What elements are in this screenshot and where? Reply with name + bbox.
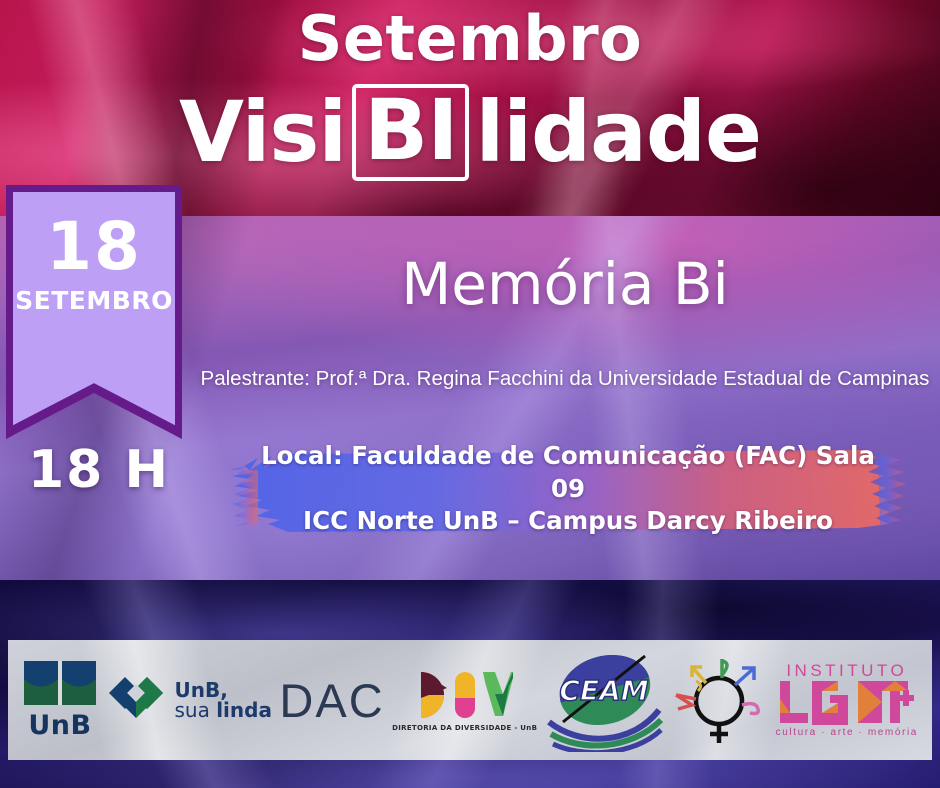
logo-instituto-lgbt: INSTITUTO cultura · arte · memória — [776, 662, 918, 738]
logo-gender-symbol — [670, 651, 768, 749]
title-suffix: lidade — [475, 90, 761, 174]
sponsor-logo-bar: UnB UnB, sua linda DAC — [8, 640, 932, 760]
title-line-setembro: Setembro — [0, 8, 940, 70]
ribbon-day: 18 — [13, 214, 175, 280]
sua-linda-line2: sua linda — [174, 700, 271, 720]
unb-wordmark: UnB — [28, 710, 91, 741]
unb-logo-icon — [22, 659, 98, 709]
location-banner: Local: Faculdade de Comunicação (FAC) Sa… — [228, 440, 908, 538]
ceam-wordmark: CEAM — [559, 674, 648, 707]
heart-logo-icon — [105, 671, 167, 729]
div-caption: DIRETORIA DA DIVERSIDADE - UnB — [392, 724, 537, 732]
title-boxed-bi: BI — [352, 84, 469, 181]
combined-gender-symbol-icon — [670, 651, 768, 749]
logo-unb-sua-linda: UnB, sua linda — [105, 671, 271, 729]
logo-ceam: CEAM — [545, 648, 663, 752]
poster-title: Setembro VisiBIlidade — [0, 8, 940, 181]
logo-unb: UnB — [22, 659, 98, 741]
title-line-visibilidade: VisiBIlidade — [0, 84, 940, 181]
dac-wordmark: DAC — [279, 673, 384, 728]
speaker-info: Palestrante: Prof.ª Dra. Regina Facchini… — [200, 364, 930, 393]
lgbt-tagline: cultura · arte · memória — [776, 727, 918, 738]
div-logo-icon — [417, 668, 513, 722]
lgbt-instituto-text: INSTITUTO — [786, 662, 907, 679]
location-text: Local: Faculdade de Comunicação (FAC) Sa… — [228, 440, 908, 538]
ribbon-month: SETEMBRO — [13, 288, 175, 313]
ceam-logo-icon: CEAM — [545, 648, 663, 752]
event-poster: Setembro VisiBIlidade 18 SETEMBRO 18 H M… — [0, 0, 940, 788]
lgbt-plus-logo-icon — [778, 679, 916, 725]
location-line-2: ICC Norte UnB – Campus Darcy Ribeiro — [303, 505, 833, 538]
logo-div: DIRETORIA DA DIVERSIDADE - UnB — [392, 668, 537, 732]
title-prefix: Visi — [179, 90, 346, 174]
location-line-1: Local: Faculdade de Comunicação (FAC) Sa… — [256, 440, 880, 505]
sua-linda-wordmark: UnB, sua linda — [174, 680, 271, 721]
sua-linda-line1: UnB, — [174, 680, 271, 700]
lecture-title: Memória Bi — [190, 254, 940, 315]
logo-dac: DAC — [279, 673, 384, 728]
event-time: 18 H — [14, 440, 184, 500]
